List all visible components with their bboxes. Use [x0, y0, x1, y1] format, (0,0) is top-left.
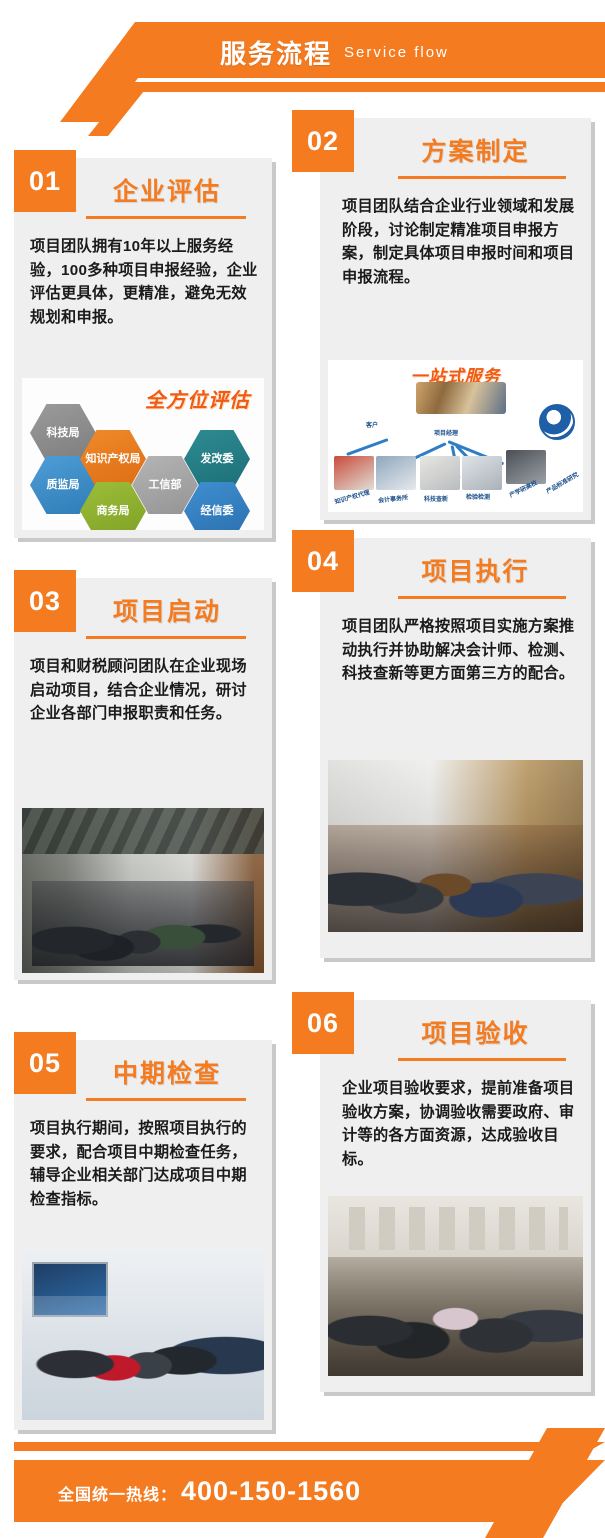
step-card-02: 方案制定 项目团队结合企业行业领域和发展阶段，讨论制定精准项目申报方案，制定具体… — [320, 118, 591, 520]
service-node-manager: 项目经理 — [434, 428, 458, 437]
hexagon-label: 商务局 — [97, 505, 130, 518]
step-badge-02: 02 — [292, 110, 354, 172]
service-team-photo — [416, 382, 506, 414]
certification-seal-icon — [539, 404, 575, 440]
service-node-image — [462, 456, 502, 490]
step-body-05: 项目执行期间，按照项目执行的要求，配合项目中期检查任务，辅导企业相关部门达成项目… — [14, 1101, 272, 1221]
step-badge-04: 04 — [292, 530, 354, 592]
step-card-05: 中期检查 项目执行期间，按照项目执行的要求，配合项目中期检查任务，辅导企业相关部… — [14, 1040, 272, 1430]
service-label: 科技查新 — [424, 494, 448, 503]
hexagon-label: 质监局 — [47, 479, 80, 492]
step-body-03: 项目和财税顾问团队在企业现场启动项目，结合企业情况，研讨企业各部门申报职责和任务… — [14, 639, 272, 736]
photo-working-meeting — [328, 760, 583, 932]
header-stripe — [103, 82, 605, 92]
photo-site-visit — [22, 1248, 264, 1420]
one-stop-service-graphic: 一站式服务 客户 项目经理 知识产权代理 会计事务所 科技查新 检验检测 产学研… — [328, 360, 583, 512]
service-node-customer: 客户 — [366, 420, 378, 429]
service-node-image — [506, 450, 546, 484]
hexagon-label: 发改委 — [201, 453, 234, 466]
hexagon-label: 科技局 — [47, 427, 80, 440]
page-subtitle: Service flow — [344, 44, 449, 61]
step-body-04: 项目团队严格按照项目实施方案推动执行并协助解决会计师、检测、科技查新等更方面第三… — [320, 599, 591, 696]
hotline-number[interactable]: 400-150-1560 — [181, 1476, 361, 1507]
step-card-04: 项目执行 项目团队严格按照项目实施方案推动执行并协助解决会计师、检测、科技查新等… — [320, 538, 591, 958]
hexagon-label: 工信部 — [149, 479, 182, 492]
step-body-02: 项目团队结合企业行业领域和发展阶段，讨论制定精准项目申报方案，制定具体项目申报时… — [320, 179, 591, 299]
page-title: 服务流程 — [220, 34, 332, 71]
step-card-03: 项目启动 项目和财税顾问团队在企业现场启动项目，结合企业情况，研讨企业各部门申报… — [14, 578, 272, 980]
hotline-label: 全国统一热线： — [58, 1481, 177, 1505]
hotline-group: 全国统一热线： 400-150-1560 — [58, 1476, 361, 1507]
hexagon-label: 知识产权局 — [86, 453, 141, 466]
header-text-group: 服务流程 Service flow — [220, 30, 600, 74]
photo-meeting-room — [22, 808, 264, 973]
step-body-01: 项目团队拥有10年以上服务经验，100多种项目申报经验，企业评估更具体，更精准，… — [14, 219, 272, 339]
page-header: 服务流程 Service flow — [0, 0, 605, 108]
service-label: 产品标准研究 — [544, 470, 580, 496]
step-card-01: 企业评估 项目团队拥有10年以上服务经验，100多种项目申报经验，企业评估更具体… — [14, 158, 272, 538]
step-body-06: 企业项目验收要求，提前准备项目验收方案，协调验收需要政府、审计等的各方面资源，达… — [320, 1061, 591, 1181]
step-badge-06: 06 — [292, 992, 354, 1054]
step-badge-03: 03 — [14, 570, 76, 632]
footer-stripe — [14, 1442, 605, 1451]
step-card-06: 项目验收 企业项目验收要求，提前准备项目验收方案，协调验收需要政府、审计等的各方… — [320, 1000, 591, 1392]
flow-arrow — [346, 438, 388, 456]
step-title-04: 项目执行 — [320, 538, 591, 588]
service-label: 检验检测 — [466, 492, 490, 501]
page-footer: 全国统一热线： 400-150-1560 — [0, 1418, 605, 1538]
step-badge-01: 01 — [14, 150, 76, 212]
photo-conference — [328, 1196, 583, 1376]
hexagon-label: 经信委 — [201, 505, 234, 518]
hexagon-assessment-graphic: 全方位评估 科技局 质监局 知识产权局 商务局 工信部 发改委 经信委 — [22, 378, 264, 530]
service-label: 会计事务所 — [378, 492, 409, 504]
service-node-image — [376, 456, 416, 490]
service-node-image — [334, 456, 374, 490]
step-title-06: 项目验收 — [320, 1000, 591, 1050]
step-title-02: 方案制定 — [320, 118, 591, 168]
step-badge-05: 05 — [14, 1032, 76, 1094]
service-node-image — [420, 456, 460, 490]
infographic-page: 服务流程 Service flow 01 企业评估 项目团队拥有10年以上服务经… — [0, 0, 605, 1538]
hexagon-graphic-title: 全方位评估 — [145, 384, 250, 413]
